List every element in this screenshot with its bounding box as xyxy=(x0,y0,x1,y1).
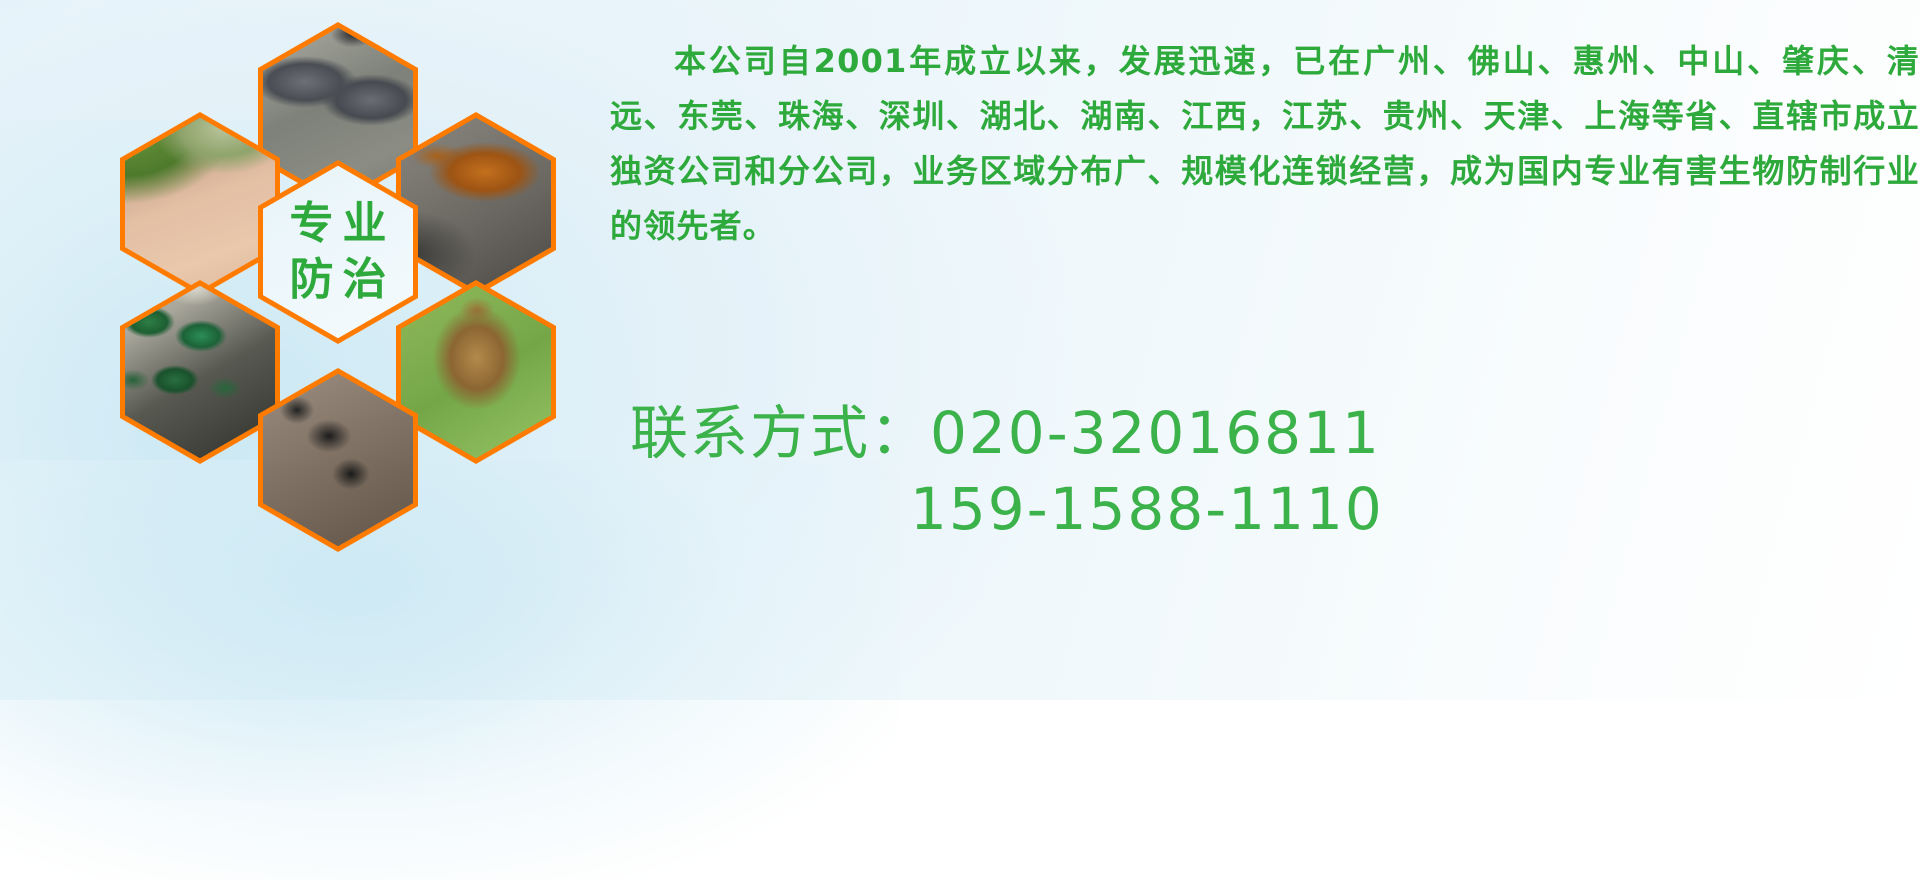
hex-badge-professional-control: 专业 防治 xyxy=(258,160,418,344)
stink-bug-photo xyxy=(401,286,551,459)
pest-control-banner: 专业 防治 本公司自2001年成立以来，发展迅速，已在广州、佛山、惠州、中山、肇… xyxy=(0,0,1920,700)
hex-inner-ant xyxy=(263,374,413,547)
hex-photo-mosquito[interactable] xyxy=(120,112,280,296)
company-intro-paragraph: 本公司自2001年成立以来，发展迅速，已在广州、佛山、惠州、中山、肇庆、清远、东… xyxy=(610,34,1920,254)
hex-inner-stink-bug xyxy=(401,286,551,459)
contact-phone-landline[interactable]: 联系方式：020-32016811 xyxy=(610,395,1920,471)
hex-photo-flies[interactable] xyxy=(120,280,280,464)
contact-phone-mobile[interactable]: 159-1588-1110 xyxy=(610,471,1920,547)
hex-inner-flies xyxy=(125,286,275,459)
badge-line-2: 防治 xyxy=(281,252,396,308)
contact-block: 联系方式：020-32016811 159-1588-1110 xyxy=(610,395,1920,547)
hex-inner-cockroach xyxy=(401,118,551,291)
ant-photo xyxy=(263,374,413,547)
hex-inner-badge: 专业 防治 xyxy=(263,166,413,339)
cockroach-photo xyxy=(401,118,551,291)
flies-photo xyxy=(125,286,275,459)
hex-photo-ant[interactable] xyxy=(258,368,418,552)
hexagon-photo-cluster: 专业 防治 xyxy=(90,8,590,568)
banner-text-column: 本公司自2001年成立以来，发展迅速，已在广州、佛山、惠州、中山、肇庆、清远、东… xyxy=(600,0,1920,700)
mosquito-photo xyxy=(125,118,275,291)
hex-photo-cockroach[interactable] xyxy=(396,112,556,296)
badge-line-1: 专业 xyxy=(281,196,396,252)
hex-photo-stink-bug[interactable] xyxy=(396,280,556,464)
hex-inner-mosquito xyxy=(125,118,275,291)
